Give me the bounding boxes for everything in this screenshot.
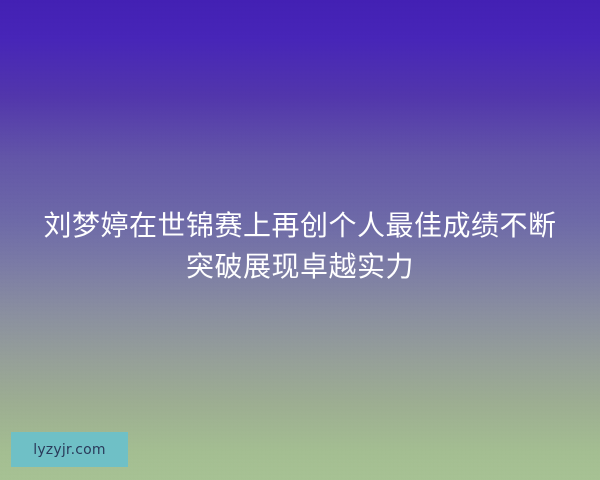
article-banner: 刘梦婷在世锦赛上再创个人最佳成绩不断 突破展现卓越实力 lyzyjr.com	[0, 0, 600, 480]
watermark-label: lyzyjr.com	[33, 443, 106, 457]
headline-title: 刘梦婷在世锦赛上再创个人最佳成绩不断 突破展现卓越实力	[18, 205, 582, 287]
watermark-badge: lyzyjr.com	[11, 432, 128, 467]
